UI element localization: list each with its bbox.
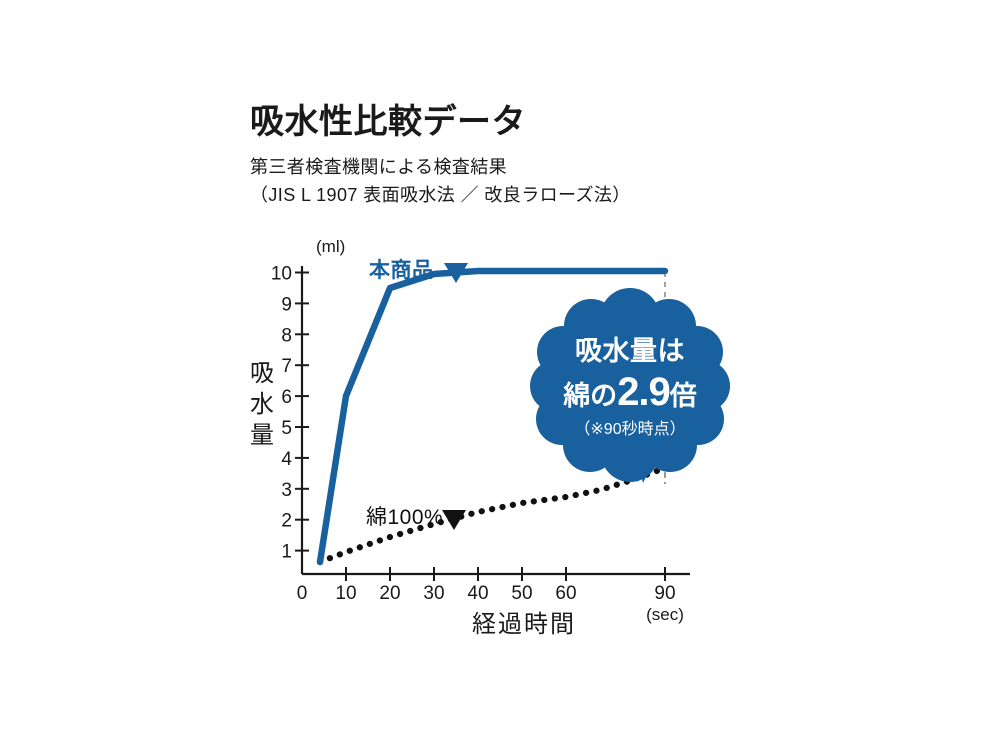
x-tick-label: 90: [654, 583, 675, 604]
callout-text-block: 吸水量は 綿の2.9倍 （※90秒時点）: [530, 288, 730, 483]
y-axis-unit: (ml): [316, 237, 345, 256]
legend-product-label: 本商品: [368, 259, 434, 282]
x-tick-labels: 0 10 20 30 40 50 60 90: [297, 583, 676, 604]
y-tick-label: 7: [281, 356, 292, 377]
y-tick-labels: 10 9 8 7 6 5 4 3 2 1: [271, 264, 293, 563]
y-tick-label: 5: [281, 418, 292, 439]
y-tick-label: 6: [281, 387, 292, 408]
x-tick-label: 0: [297, 583, 308, 604]
y-tick-label: 10: [271, 264, 292, 285]
callout-suffix: 倍: [670, 383, 697, 410]
legend-product-marker-triangle-icon: [444, 263, 468, 283]
y-tick-label: 8: [281, 325, 292, 346]
chart-page: 吸水性比較データ 第三者検査機関による検査結果 （JIS L 1907 表面吸水…: [0, 0, 1000, 750]
callout-ratio-number: 2.9: [617, 374, 670, 410]
x-tick-label: 10: [335, 583, 356, 604]
y-axis-title-char-2: 水: [250, 391, 276, 418]
legend-cotton-label: 綿100%: [366, 506, 443, 529]
subtitle-line-1: 第三者検査機関による検査結果: [250, 154, 850, 182]
callout-line-2: 綿の2.9倍: [563, 374, 697, 410]
subtitle-line-2: （JIS L 1907 表面吸水法 ／ 改良ラローズ法）: [250, 182, 850, 210]
x-tick-label: 20: [379, 583, 400, 604]
x-tick-label: 30: [423, 583, 444, 604]
header-block: 吸水性比較データ 第三者検査機関による検査結果 （JIS L 1907 表面吸水…: [250, 104, 850, 210]
callout-badge: 吸水量は 綿の2.9倍 （※90秒時点）: [530, 288, 730, 483]
legend-cotton-marker-triangle-icon: [442, 510, 466, 530]
y-tick-label: 1: [281, 542, 292, 563]
x-tick-marks: [346, 567, 665, 581]
x-tick-label: 50: [511, 583, 532, 604]
y-tick-label: 4: [281, 449, 292, 470]
x-tick-label: 60: [555, 583, 576, 604]
x-axis-unit: (sec): [646, 605, 684, 624]
legend-cotton: 綿100%: [366, 506, 466, 530]
y-tick-marks: [295, 273, 309, 551]
callout-note: （※90秒時点）: [574, 422, 685, 438]
y-axis-title-group: 吸 水 量: [250, 360, 276, 449]
callout-prefix: 綿の: [563, 383, 617, 410]
page-title: 吸水性比較データ: [250, 104, 850, 141]
y-axis-title-char-3: 量: [250, 422, 276, 449]
legend-product: 本商品: [368, 259, 468, 283]
y-tick-label: 2: [281, 511, 292, 532]
y-tick-label: 9: [281, 294, 292, 315]
x-tick-label: 40: [467, 583, 488, 604]
y-axis-title-char-1: 吸: [250, 360, 276, 387]
x-axis-title: 経過時間: [472, 611, 576, 638]
y-tick-label: 3: [281, 480, 292, 501]
callout-line-1: 吸水量は: [575, 338, 685, 365]
